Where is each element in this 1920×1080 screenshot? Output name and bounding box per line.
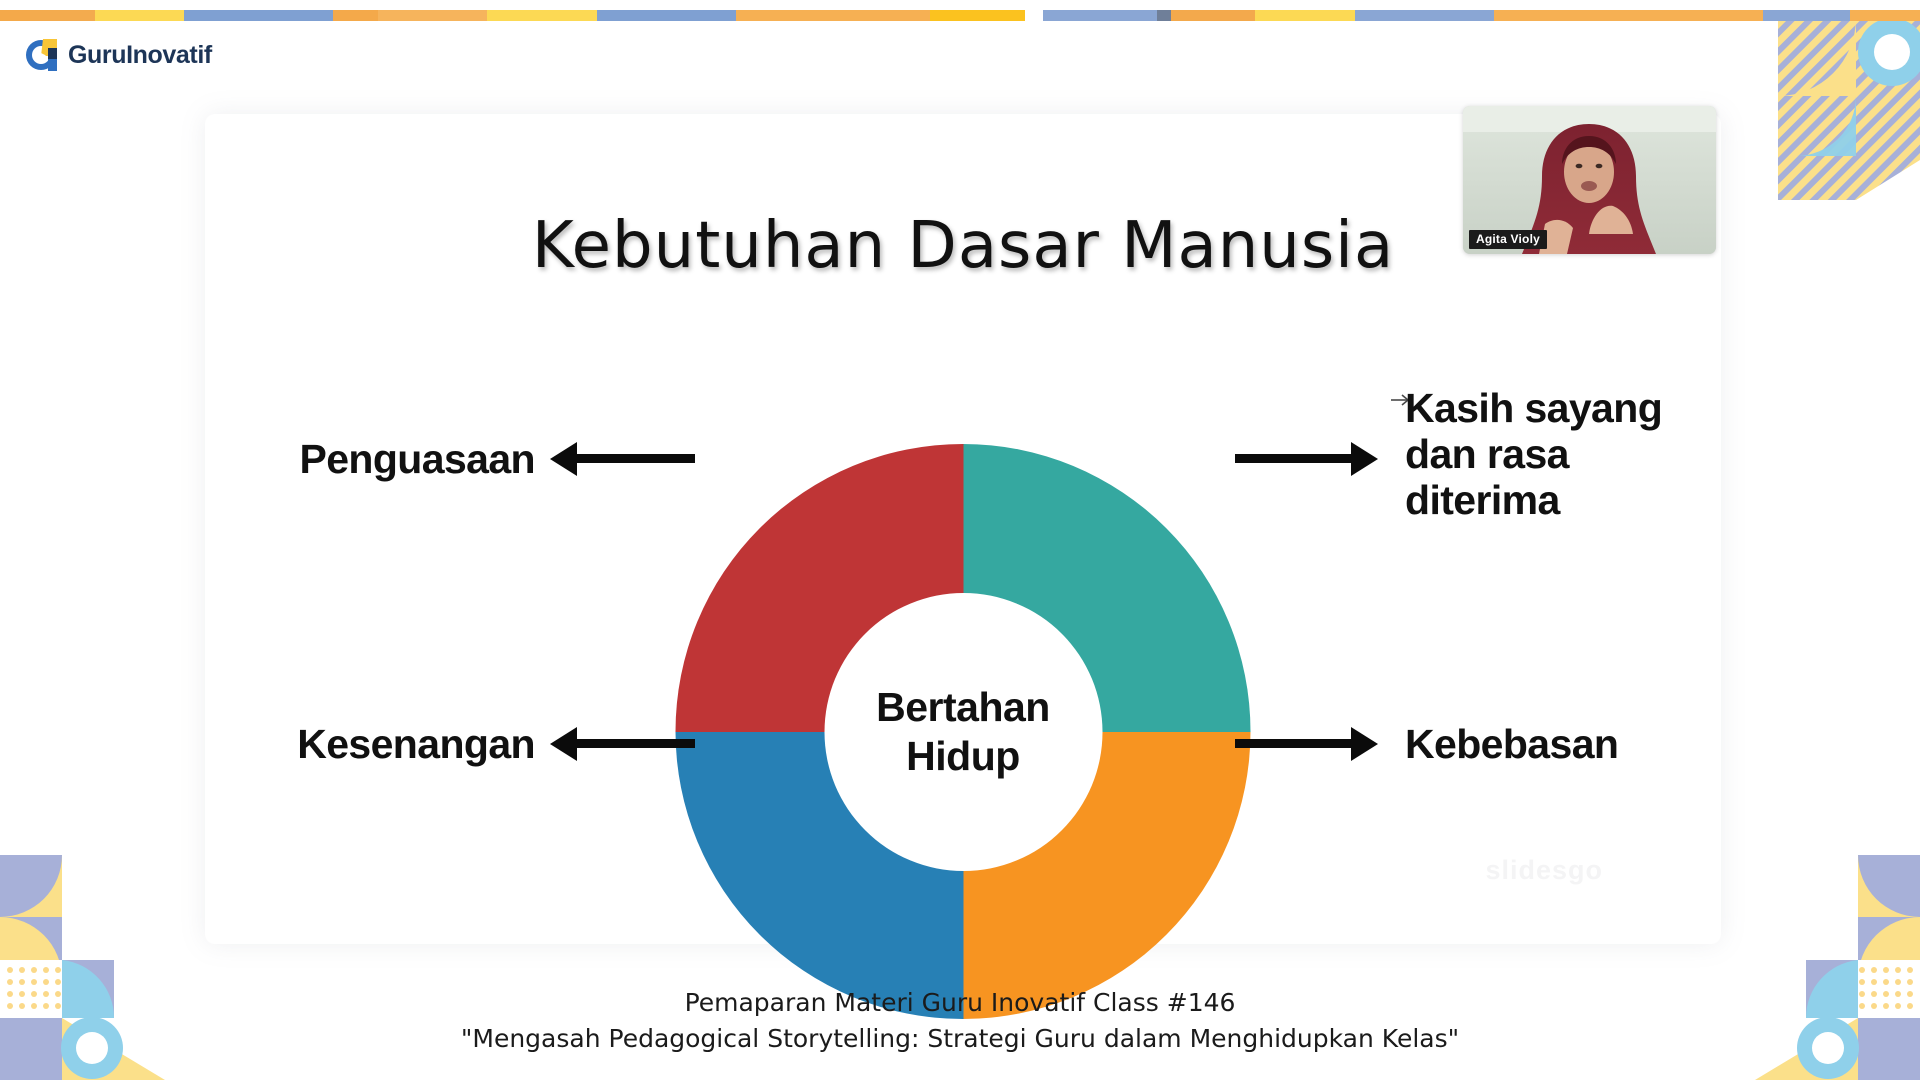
session-caption: Pemaparan Materi Guru Inovatif Class #14… [0, 985, 1920, 1056]
label-kasih-sayang: Kasih sayang dan rasa diterima [1405, 386, 1725, 524]
label-kasih-sayang-line-3: diterima [1405, 478, 1725, 524]
left-arrow-icon-penguasaan [575, 454, 695, 463]
guru-inovatif-play-g-icon [24, 38, 58, 72]
label-kebebasan-line-1: Kebebasan [1405, 722, 1735, 768]
stripe-segment [1157, 10, 1171, 21]
stripe-segment [0, 10, 30, 21]
brand-name: GuruInovatif [68, 41, 212, 70]
stripe-segment [1255, 10, 1354, 21]
stripe-segment [1494, 10, 1763, 21]
donut-center-line-1: Bertahan [876, 683, 1050, 731]
top-decorative-stripe [0, 10, 1920, 21]
label-penguasaan: Penguasaan [205, 437, 535, 483]
caption-line-1: Pemaparan Materi Guru Inovatif Class #14… [0, 985, 1920, 1021]
donut-center-label: Bertahan Hidup [824, 593, 1102, 871]
label-kesenangan-line-1: Kesenangan [205, 722, 535, 768]
slide-watermark: slidesgo [1485, 855, 1603, 886]
left-arrow-icon-kesenangan [575, 739, 695, 748]
stripe-segment [930, 10, 1025, 21]
stripe-segment [378, 10, 487, 21]
stripe-segment [597, 10, 736, 21]
right-arrow-icon-kasih-sayang [1235, 454, 1353, 463]
stripe-segment [1355, 10, 1494, 21]
donut-chart: Bertahan Hidup [676, 444, 1251, 1019]
right-arrow-icon-kebebasan [1235, 739, 1353, 748]
stripe-segment [1763, 10, 1851, 21]
label-kesenangan: Kesenangan [205, 722, 535, 768]
stripe-segment [333, 10, 378, 21]
brand-header[interactable]: GuruInovatif [24, 38, 212, 72]
stripe-segment [30, 10, 95, 21]
label-kasih-sayang-line-1: Kasih sayang [1405, 386, 1725, 432]
stripe-segment [95, 10, 185, 21]
label-kasih-sayang-line-2: dan rasa [1405, 432, 1725, 478]
stripe-segment [1043, 10, 1157, 21]
participant-video-thumbnail[interactable]: Agita Violy [1463, 106, 1716, 254]
stripe-segment [184, 10, 333, 21]
stripe-segment [1025, 10, 1043, 21]
stripe-segment [487, 10, 596, 21]
label-penguasaan-line-1: Penguasaan [205, 437, 535, 483]
caption-line-2: "Mengasah Pedagogical Storytelling: Stra… [0, 1021, 1920, 1057]
stripe-segment [736, 10, 930, 21]
donut-center-line-2: Hidup [906, 732, 1020, 780]
stripe-segment [1171, 10, 1256, 21]
stripe-segment [1850, 10, 1920, 21]
participant-name-badge: Agita Violy [1469, 230, 1547, 249]
label-kebebasan: Kebebasan [1405, 722, 1735, 768]
